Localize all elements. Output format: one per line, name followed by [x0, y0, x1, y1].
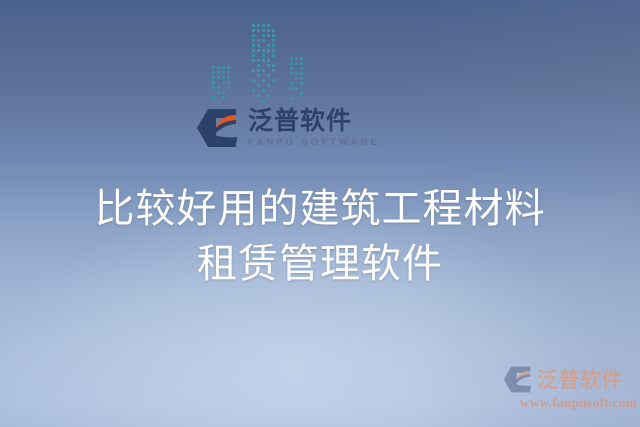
brand-lockup: 泛普软件 FANPU SOFTWARE — [196, 108, 380, 148]
watermark-name-cn: 泛普软件 — [537, 364, 623, 394]
brand-name-cn: 泛普软件 — [248, 108, 380, 133]
page-title: 比较好用的建筑工程材料 租赁管理软件 — [0, 182, 640, 292]
promo-banner: 泛普软件 FANPU SOFTWARE 比较好用的建筑工程材料 租赁管理软件 泛… — [0, 0, 640, 427]
watermark-url: www.fanpusoft.com — [503, 395, 637, 411]
brand-name-en: FANPU SOFTWARE — [248, 138, 380, 148]
watermark: 泛普软件 www.fanpusoft.com — [503, 364, 637, 411]
fanpu-logo-watermark-icon — [503, 366, 533, 393]
pixel-skyline-icon — [212, 24, 332, 106]
fanpu-logo-icon — [196, 108, 240, 148]
